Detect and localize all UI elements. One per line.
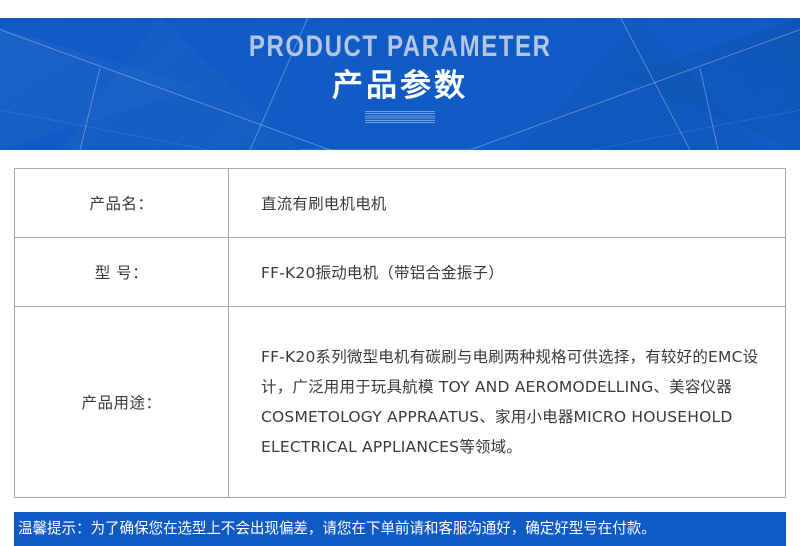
header-banner: PRODUCT PARAMETER 产品参数 — [0, 18, 800, 150]
row-label-product-usage: 产品用途： — [15, 307, 229, 498]
table-row: 产品名： 直流有刷电机电机 — [15, 169, 786, 238]
row-value-product-name: 直流有刷电机电机 — [229, 169, 786, 238]
header-striped-rule-decoration — [365, 111, 435, 124]
warm-tip-notice-banner: 温馨提示：为了确保您在选型上不会出现偏差，请您在下单前请和客服沟通好，确定好型号… — [14, 512, 786, 546]
table-row: 产品用途： FF-K20系列微型电机有碳刷与电刷两种规格可供选择，有较好的EMC… — [15, 307, 786, 498]
table-row: 型 号： FF-K20振动电机（带铝合金振子） — [15, 238, 786, 307]
top-white-strip — [0, 0, 800, 18]
notice-container: 温馨提示：为了确保您在选型上不会出现偏差，请您在下单前请和客服沟通好，确定好型号… — [0, 498, 800, 546]
row-value-product-usage: FF-K20系列微型电机有碳刷与电刷两种规格可供选择，有较好的EMC设计，广泛用… — [229, 307, 786, 498]
product-parameter-table: 产品名： 直流有刷电机电机 型 号： FF-K20振动电机（带铝合金振子） 产品… — [14, 168, 786, 498]
row-label-model-number: 型 号： — [15, 238, 229, 307]
header-title-chinese: 产品参数 — [332, 66, 468, 106]
spec-table-container: 产品名： 直流有刷电机电机 型 号： FF-K20振动电机（带铝合金振子） 产品… — [0, 150, 800, 498]
row-value-model-number: FF-K20振动电机（带铝合金振子） — [229, 238, 786, 307]
header-title-english: PRODUCT PARAMETER — [249, 30, 552, 64]
row-label-product-name: 产品名： — [15, 169, 229, 238]
